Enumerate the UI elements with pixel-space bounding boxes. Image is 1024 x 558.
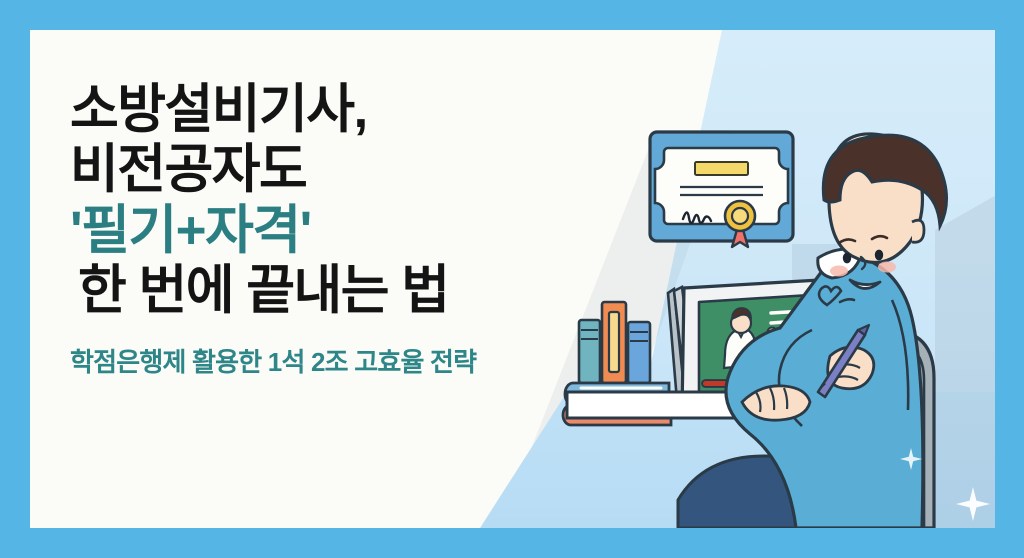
headline-block: 소방설비기사, 비전공자도 '필기+자격' 한 번에 끝내는 법 학점은행제 활…: [70, 80, 610, 379]
certificate-frame: [650, 132, 793, 247]
headline-line-4: 한 번에 끝내는 법: [70, 261, 610, 321]
subtitle-text: 학점은행제 활용한 1석 2조 고효율 전략: [70, 342, 610, 379]
headline-line-3-accent: '필기+자격': [70, 201, 610, 261]
banner-card: 소방설비기사, 비전공자도 '필기+자격' 한 번에 끝내는 법 학점은행제 활…: [30, 30, 995, 528]
headline-line-1: 소방설비기사,: [70, 80, 610, 140]
headline-line-2: 비전공자도: [70, 140, 610, 200]
promo-banner: 소방설비기사, 비전공자도 '필기+자격' 한 번에 끝내는 법 학점은행제 활…: [0, 0, 1024, 558]
